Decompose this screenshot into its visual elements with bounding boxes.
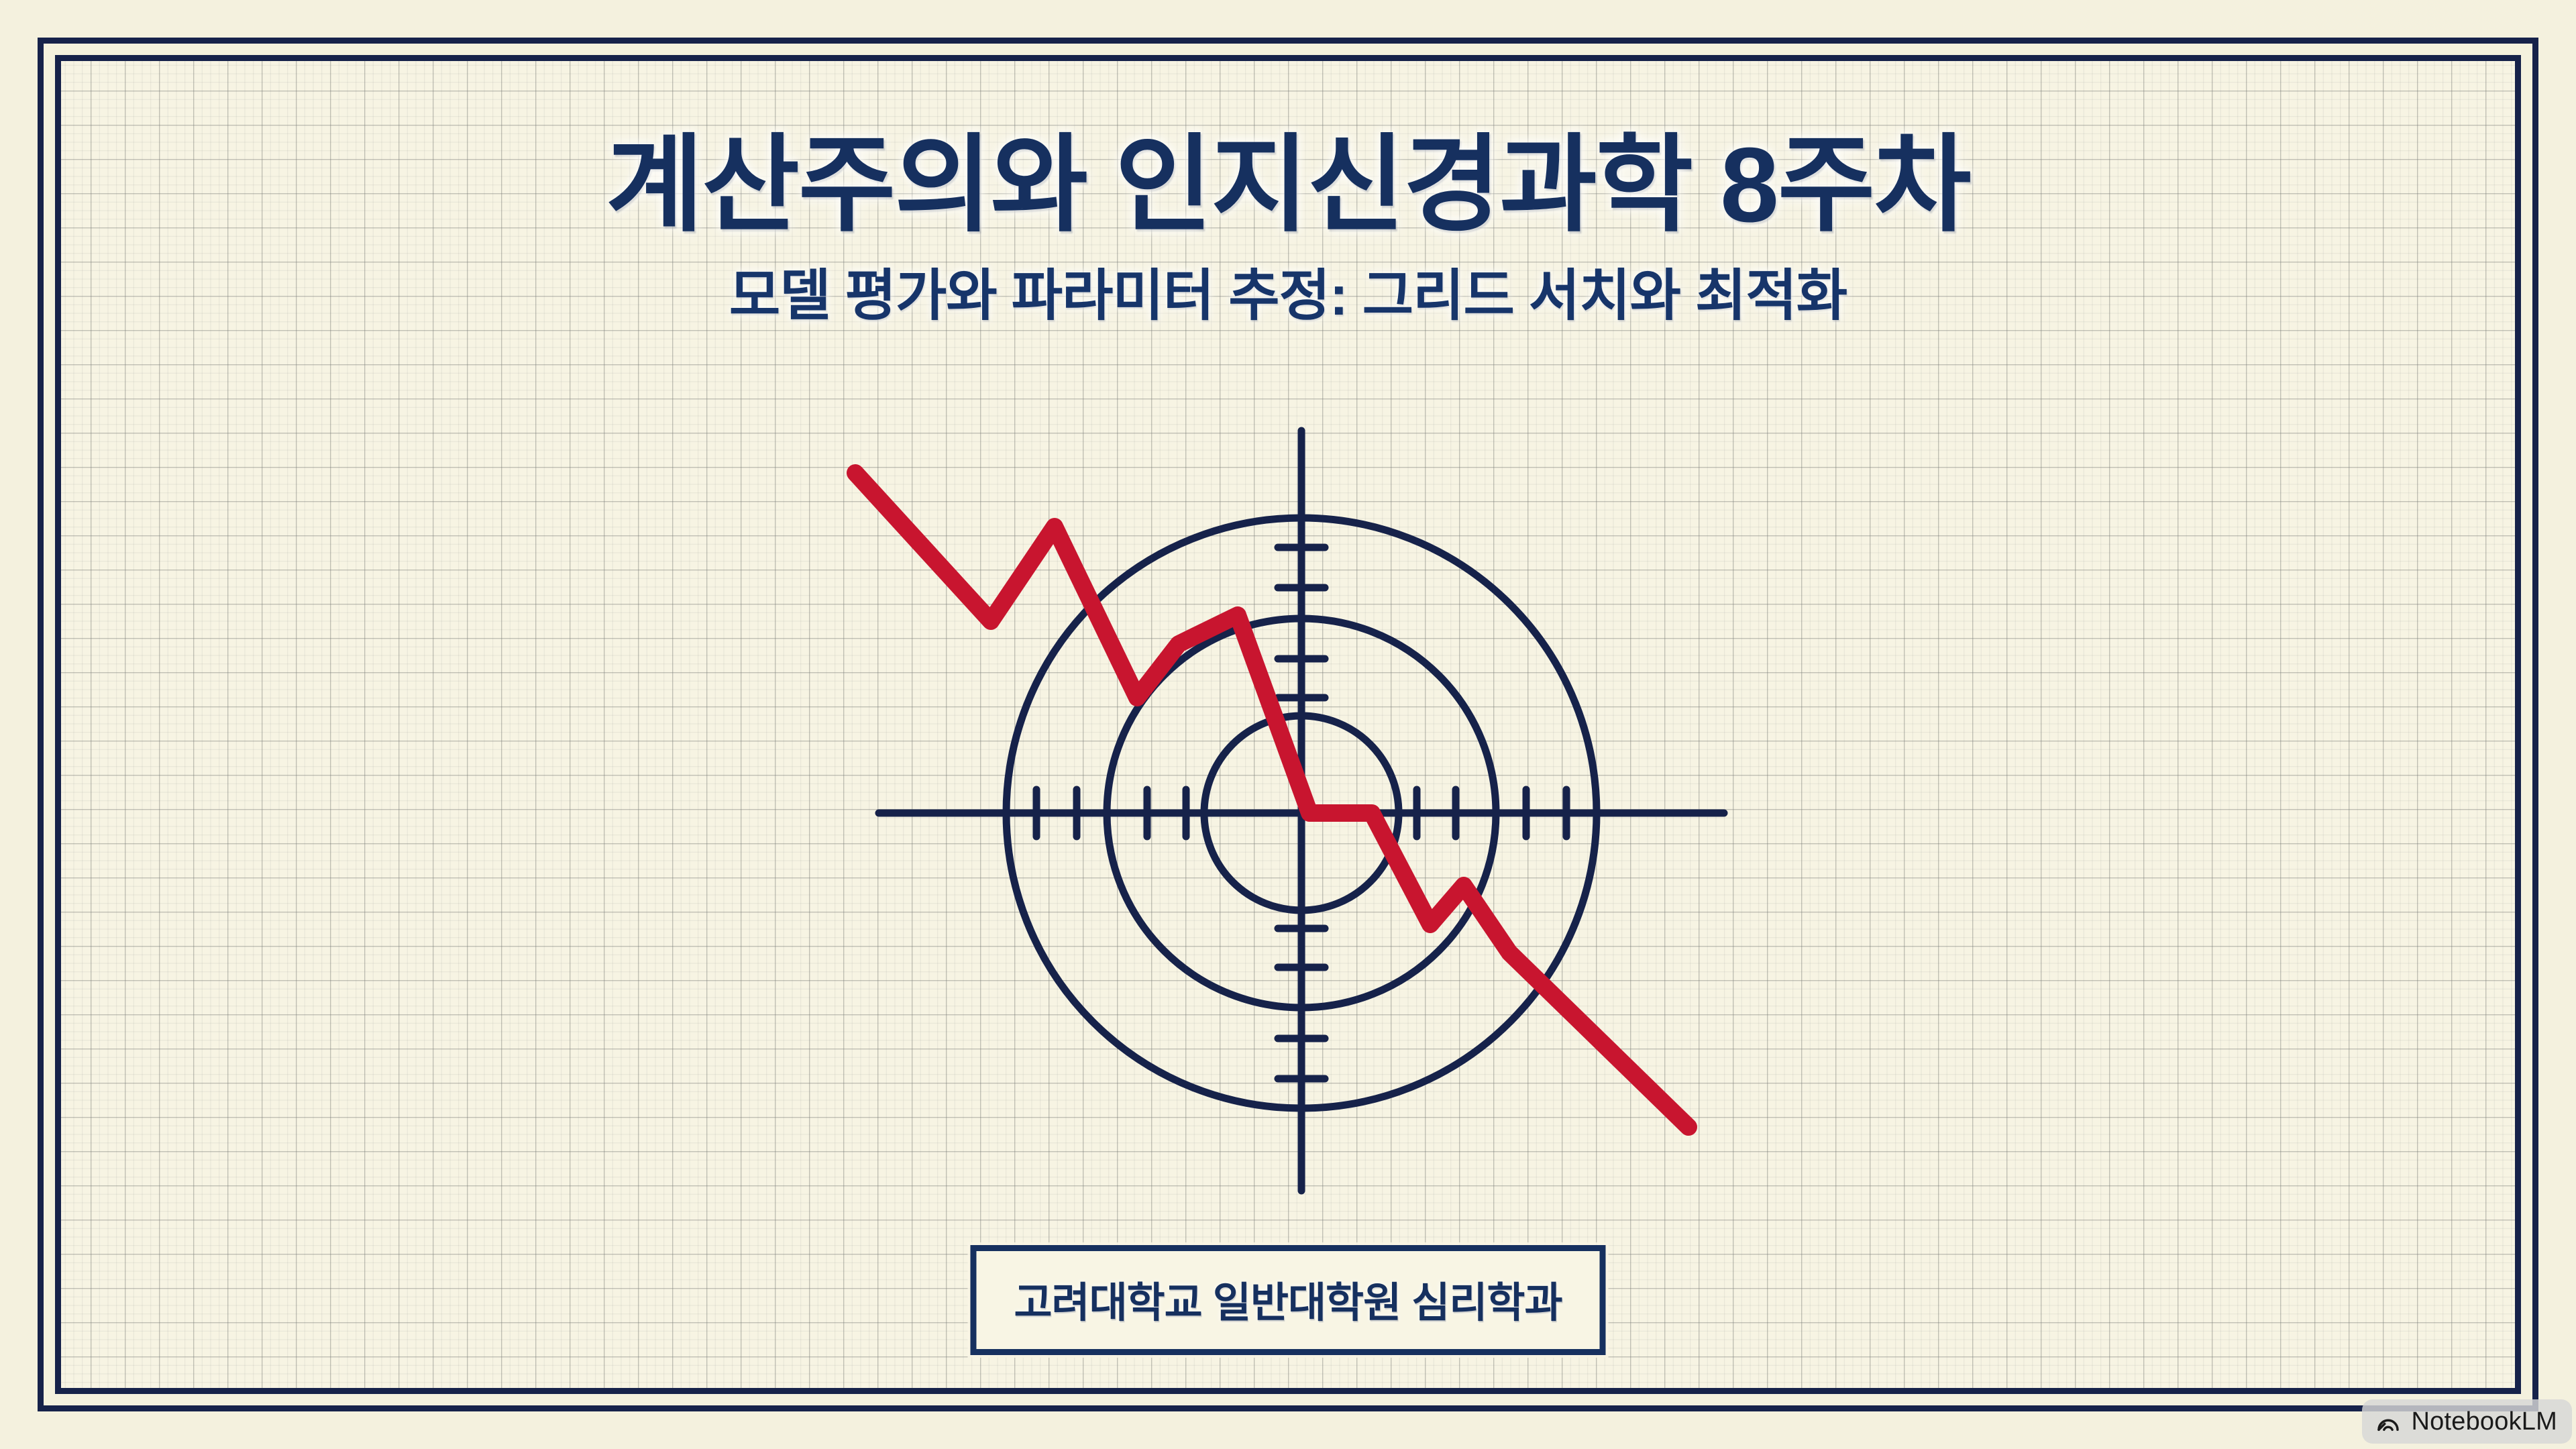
notebooklm-watermark: NotebookLM xyxy=(2362,1399,2572,1444)
affiliation-badge: 고려대학교 일반대학원 심리학과 xyxy=(970,1245,1605,1355)
notebooklm-label: NotebookLM xyxy=(2412,1409,2557,1434)
slide-canvas: 계산주의와 인지신경과학 8주차 모델 평가와 파라미터 추정: 그리드 서치와… xyxy=(0,0,2576,1449)
notebooklm-arc-icon xyxy=(2374,1407,2402,1436)
target-illustration xyxy=(798,416,1805,1221)
affiliation-label: 고려대학교 일반대학원 심리학과 xyxy=(1014,1280,1562,1326)
